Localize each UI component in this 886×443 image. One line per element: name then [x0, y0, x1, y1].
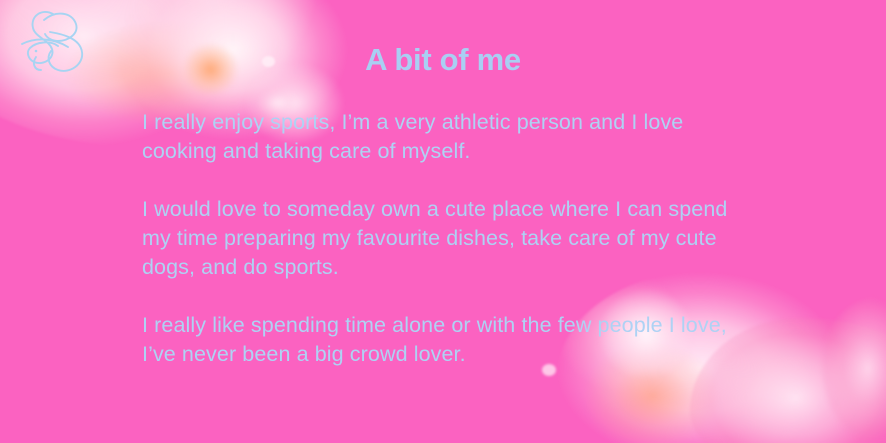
page-title: A bit of me: [0, 42, 886, 78]
paragraph-2: I would love to someday own a cute place…: [142, 195, 742, 282]
paragraph-1: I really enjoy sports, I’m a very athlet…: [142, 108, 742, 166]
body-copy: I really enjoy sports, I’m a very athlet…: [142, 108, 742, 369]
slide-canvas: A bit of me I really enjoy sports, I’m a…: [0, 0, 886, 443]
paragraph-3: I really like spending time alone or wit…: [142, 311, 742, 369]
watercolor-splash-bottom-right-edge: [820, 296, 886, 443]
